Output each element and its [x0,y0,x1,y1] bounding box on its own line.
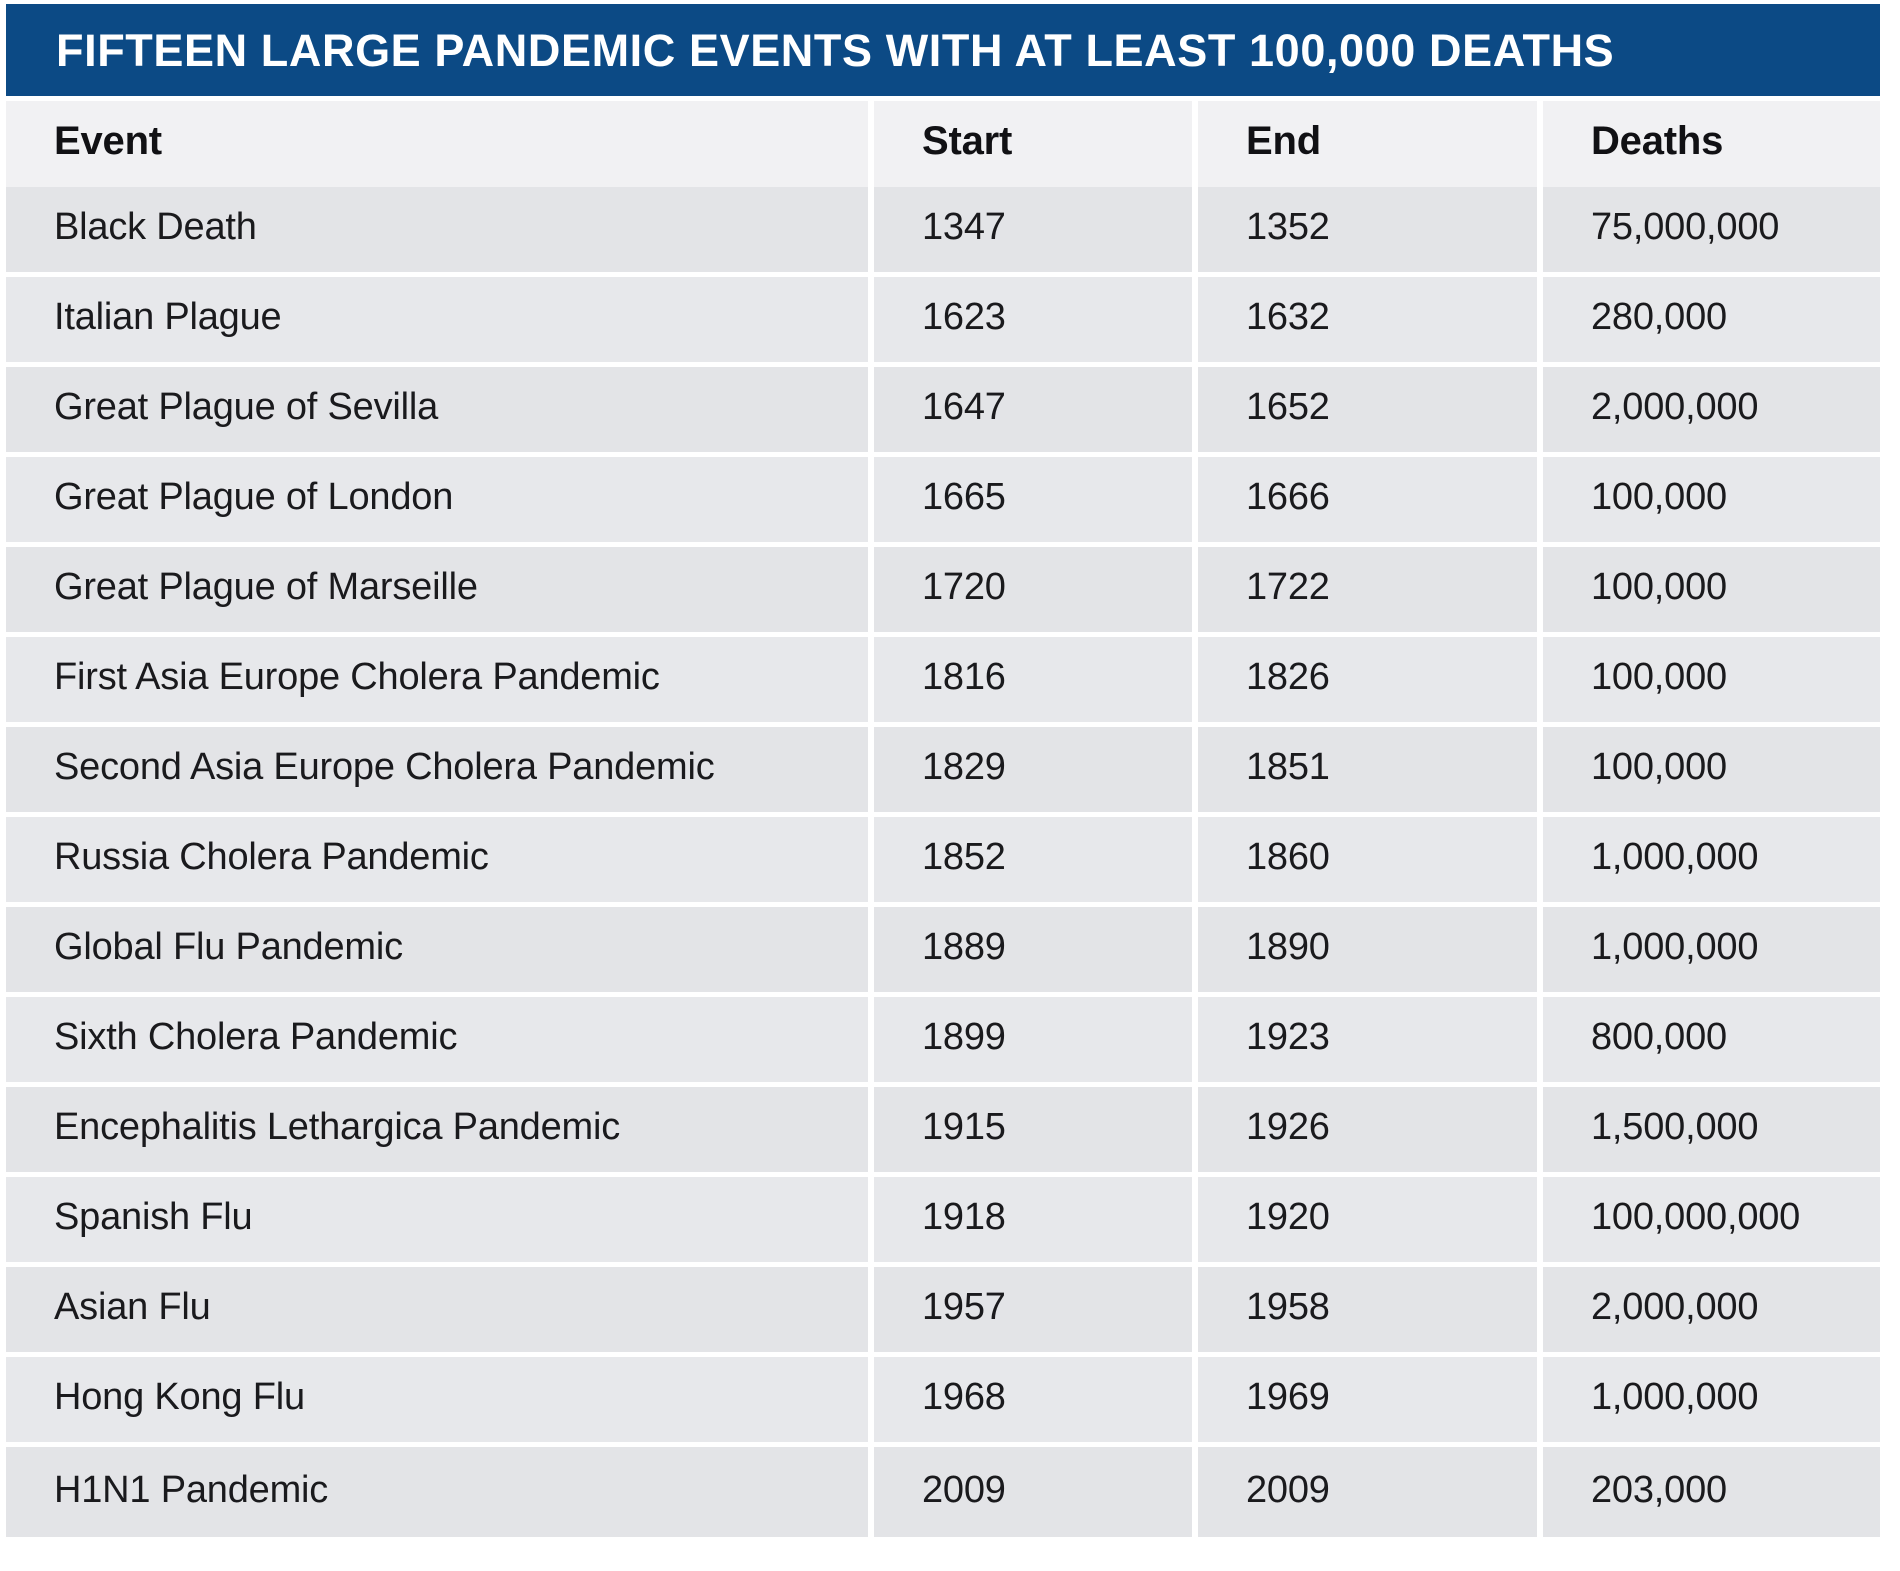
cell-start: 1816 [874,637,1198,727]
cell-event: Spanish Flu [6,1177,874,1267]
table-row[interactable]: H1N1 Pandemic20092009203,000 [6,1447,1880,1537]
cell-event: Asian Flu [6,1267,874,1357]
table-row[interactable]: Asian Flu195719582,000,000 [6,1267,1880,1357]
cell-start: 1623 [874,277,1198,367]
cell-end: 1860 [1198,817,1543,907]
cell-event: Italian Plague [6,277,874,367]
cell-event: Russia Cholera Pandemic [6,817,874,907]
cell-deaths: 75,000,000 [1543,187,1880,277]
cell-start: 1347 [874,187,1198,277]
table-row[interactable]: Global Flu Pandemic188918901,000,000 [6,907,1880,997]
cell-event: Great Plague of Marseille [6,547,874,637]
cell-start: 1665 [874,457,1198,547]
cell-end: 1958 [1198,1267,1543,1357]
table-row[interactable]: Great Plague of London16651666100,000 [6,457,1880,547]
cell-event: Encephalitis Lethargica Pandemic [6,1087,874,1177]
cell-start: 2009 [874,1447,1198,1537]
cell-event: Second Asia Europe Cholera Pandemic [6,727,874,817]
column-header-event[interactable]: Event [6,101,874,187]
cell-event: H1N1 Pandemic [6,1447,874,1537]
table-row[interactable]: First Asia Europe Cholera Pandemic181618… [6,637,1880,727]
cell-start: 1957 [874,1267,1198,1357]
cell-end: 2009 [1198,1447,1543,1537]
cell-deaths: 800,000 [1543,997,1880,1087]
cell-deaths: 280,000 [1543,277,1880,367]
cell-event: Great Plague of Sevilla [6,367,874,457]
cell-end: 1890 [1198,907,1543,997]
column-header-deaths[interactable]: Deaths [1543,101,1880,187]
cell-end: 1851 [1198,727,1543,817]
cell-start: 1889 [874,907,1198,997]
cell-deaths: 2,000,000 [1543,1267,1880,1357]
column-header-end[interactable]: End [1198,101,1543,187]
table-header-row: Event Start End Deaths [6,101,1880,187]
cell-deaths: 100,000 [1543,457,1880,547]
cell-end: 1666 [1198,457,1543,547]
cell-end: 1920 [1198,1177,1543,1267]
cell-start: 1899 [874,997,1198,1087]
table-row[interactable]: Russia Cholera Pandemic185218601,000,000 [6,817,1880,907]
cell-start: 1829 [874,727,1198,817]
cell-event: Great Plague of London [6,457,874,547]
pandemic-table-page: FIFTEEN LARGE PANDEMIC EVENTS WITH AT LE… [0,0,1900,1571]
cell-event: Sixth Cholera Pandemic [6,997,874,1087]
table-body: Black Death1347135275,000,000Italian Pla… [6,187,1880,1537]
table-row[interactable]: Encephalitis Lethargica Pandemic19151926… [6,1087,1880,1177]
cell-deaths: 1,500,000 [1543,1087,1880,1177]
table-row[interactable]: Hong Kong Flu196819691,000,000 [6,1357,1880,1447]
cell-end: 1969 [1198,1357,1543,1447]
cell-event: Global Flu Pandemic [6,907,874,997]
cell-deaths: 1,000,000 [1543,907,1880,997]
cell-start: 1968 [874,1357,1198,1447]
cell-deaths: 100,000 [1543,547,1880,637]
table-row[interactable]: Spanish Flu19181920100,000,000 [6,1177,1880,1267]
table-row[interactable]: Great Plague of Marseille17201722100,000 [6,547,1880,637]
page-title: FIFTEEN LARGE PANDEMIC EVENTS WITH AT LE… [6,28,1614,73]
cell-end: 1826 [1198,637,1543,727]
title-banner: FIFTEEN LARGE PANDEMIC EVENTS WITH AT LE… [6,4,1880,96]
cell-deaths: 100,000 [1543,727,1880,817]
cell-deaths: 1,000,000 [1543,817,1880,907]
pandemic-table-container: Event Start End Deaths Black Death134713… [6,101,1880,1565]
cell-end: 1652 [1198,367,1543,457]
table-row[interactable]: Great Plague of Sevilla164716522,000,000 [6,367,1880,457]
cell-deaths: 203,000 [1543,1447,1880,1537]
cell-start: 1918 [874,1177,1198,1267]
cell-end: 1923 [1198,997,1543,1087]
table-row[interactable]: Italian Plague16231632280,000 [6,277,1880,367]
pandemic-table: Event Start End Deaths Black Death134713… [6,101,1880,1537]
table-row[interactable]: Black Death1347135275,000,000 [6,187,1880,277]
cell-start: 1720 [874,547,1198,637]
cell-event: Black Death [6,187,874,277]
cell-end: 1926 [1198,1087,1543,1177]
cell-event: First Asia Europe Cholera Pandemic [6,637,874,727]
cell-deaths: 100,000 [1543,637,1880,727]
cell-start: 1915 [874,1087,1198,1177]
cell-deaths: 1,000,000 [1543,1357,1880,1447]
column-header-start[interactable]: Start [874,101,1198,187]
table-row[interactable]: Sixth Cholera Pandemic18991923800,000 [6,997,1880,1087]
cell-event: Hong Kong Flu [6,1357,874,1447]
cell-deaths: 2,000,000 [1543,367,1880,457]
cell-deaths: 100,000,000 [1543,1177,1880,1267]
cell-end: 1722 [1198,547,1543,637]
cell-end: 1352 [1198,187,1543,277]
table-header: Event Start End Deaths [6,101,1880,187]
table-row[interactable]: Second Asia Europe Cholera Pandemic18291… [6,727,1880,817]
cell-start: 1852 [874,817,1198,907]
cell-start: 1647 [874,367,1198,457]
cell-end: 1632 [1198,277,1543,367]
